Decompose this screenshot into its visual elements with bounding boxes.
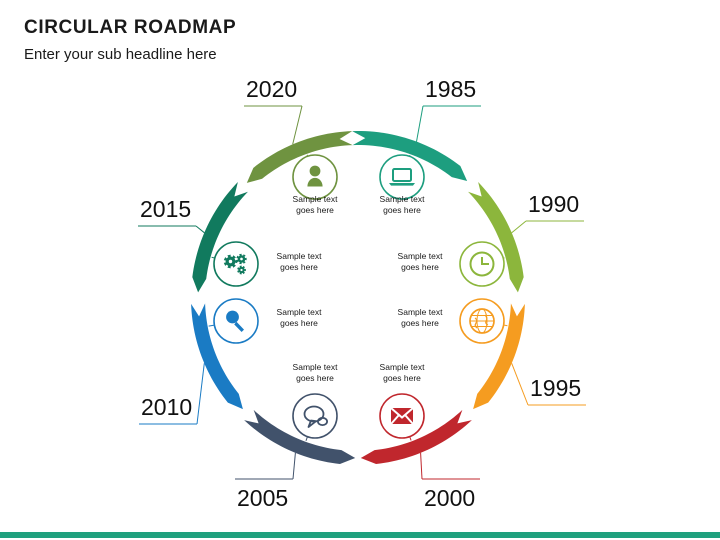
laptop-icon[interactable]	[380, 155, 424, 199]
person-icon[interactable]	[293, 155, 337, 199]
speech-bubble-icon[interactable]	[293, 394, 337, 438]
year-label-2015[interactable]: 2015	[140, 196, 191, 223]
connector-line-group	[138, 106, 586, 479]
year-hook-2010	[197, 363, 204, 424]
envelope-icon[interactable]	[380, 394, 424, 438]
circular-roadmap-diagram: ✳	[0, 0, 720, 540]
sample-text-2000: Sample text goes here	[362, 362, 442, 384]
bottom-accent-bar	[0, 532, 720, 538]
year-hook-1990	[512, 221, 526, 233]
year-hook-2000	[421, 453, 422, 479]
key-icon[interactable]	[214, 299, 258, 343]
gears-icon[interactable]	[214, 242, 258, 286]
year-label-2020[interactable]: 2020	[246, 76, 297, 103]
sample-text-2010: Sample text goes here	[259, 307, 339, 329]
year-label-1985[interactable]: 1985	[425, 76, 476, 103]
sample-text-1990: Sample text goes here	[380, 251, 460, 273]
year-label-2010[interactable]: 2010	[141, 394, 192, 421]
globe-icon[interactable]	[460, 299, 504, 343]
roadmap-arc-group: ✳	[191, 131, 525, 464]
sample-text-1985: Sample text goes here	[362, 194, 442, 216]
clock-icon[interactable]	[460, 242, 504, 286]
year-hook-2020	[293, 106, 302, 144]
sample-text-2020: Sample text goes here	[275, 194, 355, 216]
icon-node-group	[214, 155, 504, 438]
sample-text-2015: Sample text goes here	[259, 251, 339, 273]
year-hook-2005	[293, 453, 295, 479]
asterisk-accent-icon: ✳	[419, 131, 428, 143]
year-label-1995[interactable]: 1995	[530, 375, 581, 402]
icon-stem-2010	[209, 325, 215, 326]
sample-text-1995: Sample text goes here	[380, 307, 460, 329]
slide-canvas: CIRCULAR ROADMAP Enter your sub headline…	[0, 0, 720, 540]
year-label-1990[interactable]: 1990	[528, 191, 579, 218]
sample-text-2005: Sample text goes here	[275, 362, 355, 384]
year-label-2005[interactable]: 2005	[237, 485, 288, 512]
year-label-2000[interactable]: 2000	[424, 485, 475, 512]
year-hook-1995	[512, 363, 528, 405]
year-hook-2015	[196, 226, 204, 233]
